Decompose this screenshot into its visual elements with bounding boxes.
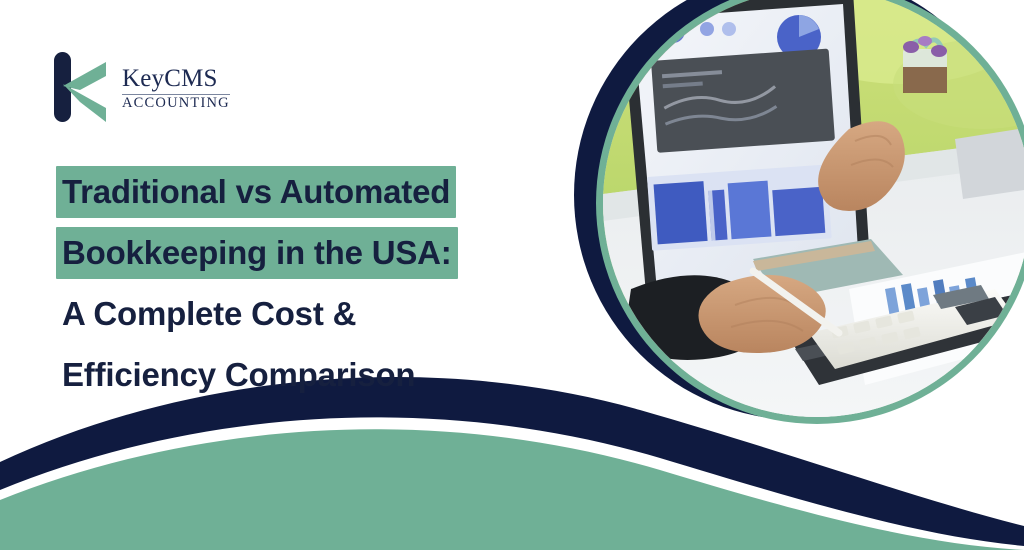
page-title: Traditional vs Automated Bookkeeping in … bbox=[56, 166, 576, 410]
title-line-4: Efficiency Comparison bbox=[56, 349, 421, 401]
brand-logo[interactable]: KeyCMS ACCOUNTING bbox=[50, 50, 230, 124]
keycms-k-monogram-icon bbox=[50, 50, 112, 124]
hero-photo bbox=[603, 0, 1024, 417]
title-line-2: Bookkeeping in the USA: bbox=[56, 227, 458, 279]
brand-name: KeyCMS bbox=[122, 66, 218, 92]
potted-plant bbox=[903, 36, 947, 93]
brand-tagline: ACCOUNTING bbox=[122, 96, 230, 112]
title-line-3: A Complete Cost & bbox=[56, 288, 362, 340]
hero-photo-illustration bbox=[603, 0, 1024, 417]
brand-logo-text: KeyCMS ACCOUNTING bbox=[122, 62, 230, 112]
title-line-1: Traditional vs Automated bbox=[56, 166, 456, 218]
photo-cluster bbox=[574, 0, 1024, 450]
blog-banner: KeyCMS ACCOUNTING Traditional vs Automat… bbox=[0, 0, 1024, 550]
